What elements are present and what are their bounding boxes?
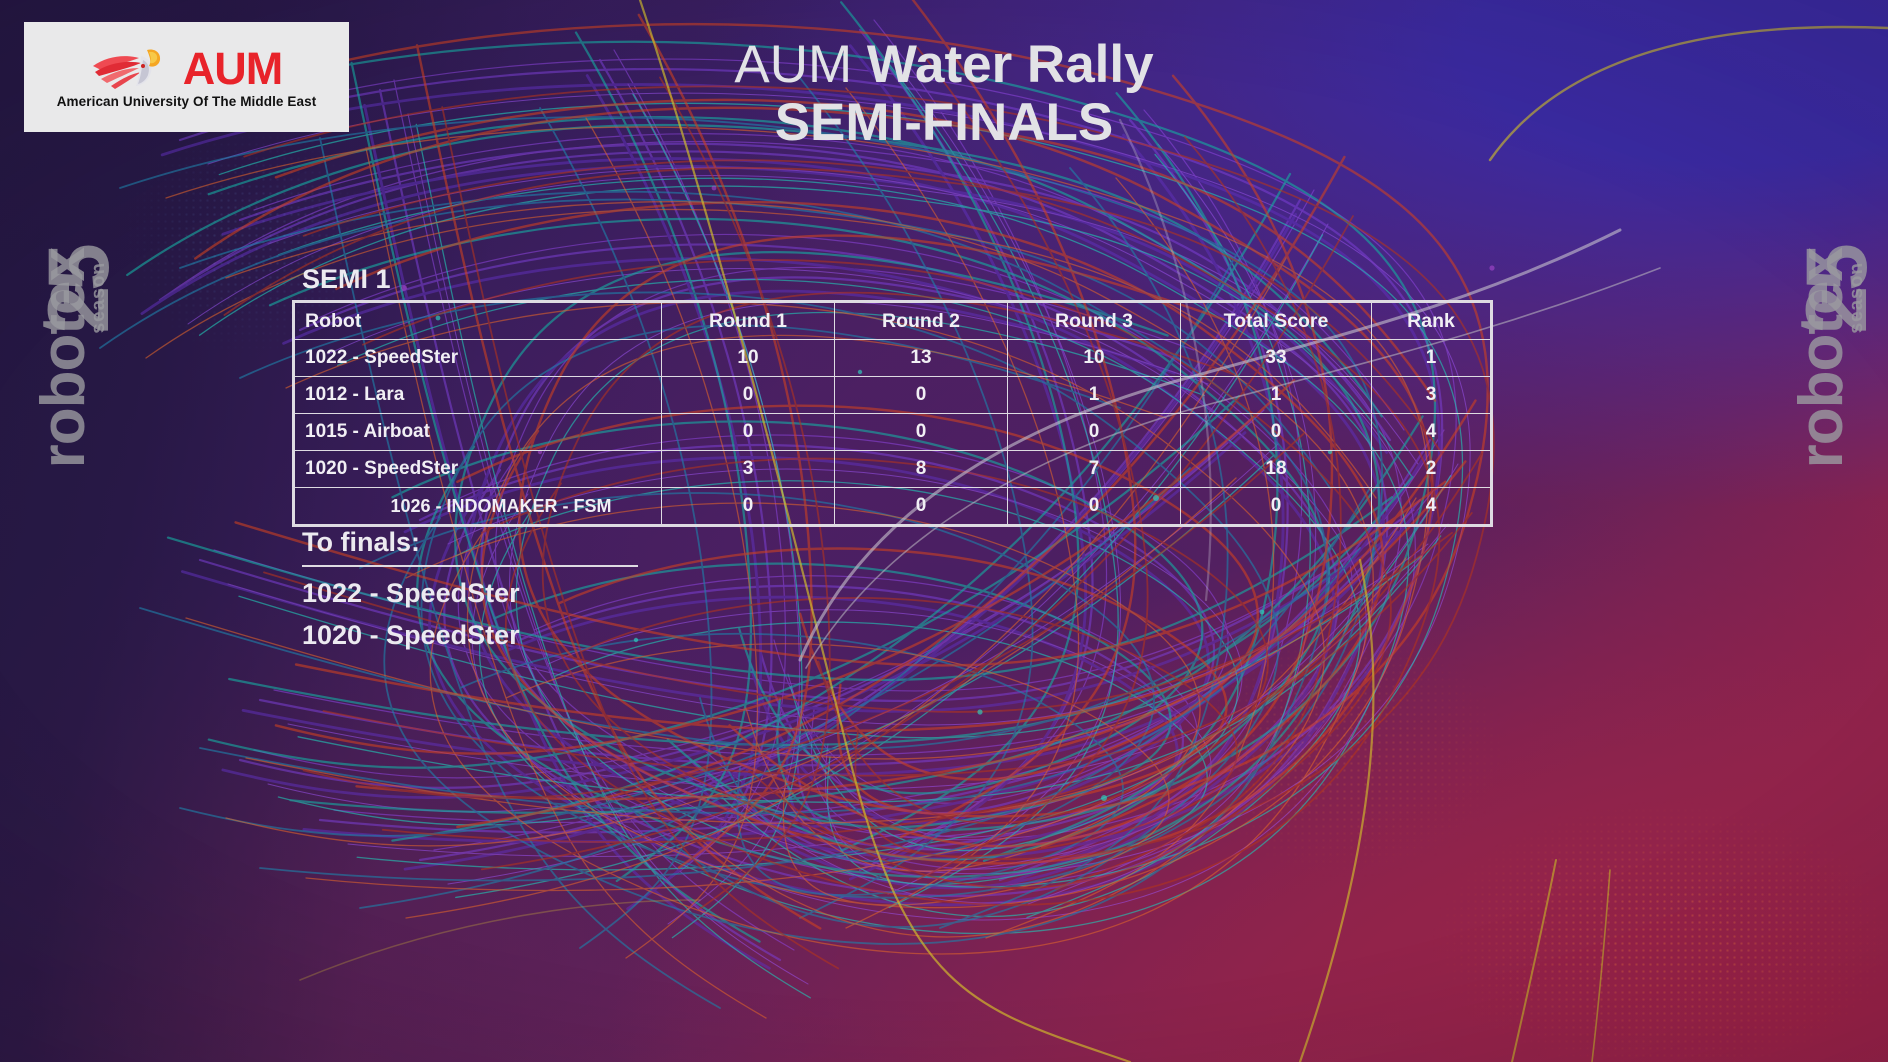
- aum-wordmark: AUM: [183, 48, 282, 89]
- cell-round2: 0: [835, 488, 1008, 526]
- cell-rank: 1: [1372, 340, 1492, 377]
- cell-round3: 0: [1008, 414, 1181, 451]
- cell-robot: 1012 - Lara: [294, 377, 662, 414]
- cell-total: 1: [1181, 377, 1372, 414]
- to-finals-divider: [302, 565, 638, 567]
- robotex-season-watermark-left: season: [88, 261, 110, 335]
- aum-falcon-icon: [91, 46, 179, 92]
- cell-total: 0: [1181, 488, 1372, 526]
- results-table: Robot Round 1 Round 2 Round 3 Total Scor…: [292, 300, 1493, 527]
- cell-round3: 7: [1008, 451, 1181, 488]
- column-header-round2: Round 2: [835, 302, 1008, 340]
- cell-round2: 8: [835, 451, 1008, 488]
- cell-round1: 3: [662, 451, 835, 488]
- robotex-25-watermark-left: 25: [30, 248, 129, 334]
- cell-round1: 10: [662, 340, 835, 377]
- cell-round2: 0: [835, 377, 1008, 414]
- cell-round1: 0: [662, 414, 835, 451]
- cell-round2: 13: [835, 340, 1008, 377]
- cell-robot: 1022 - SpeedSter: [294, 340, 662, 377]
- table-header-row: Robot Round 1 Round 2 Round 3 Total Scor…: [294, 302, 1492, 340]
- background-vignette: [0, 0, 1888, 1062]
- robotex-25-watermark-right: 25: [1788, 248, 1887, 334]
- cell-round2: 0: [835, 414, 1008, 451]
- column-header-robot: Robot: [294, 302, 662, 340]
- cell-round3: 1: [1008, 377, 1181, 414]
- column-header-round3: Round 3: [1008, 302, 1181, 340]
- bracket-section-label: SEMI 1: [302, 264, 391, 295]
- to-finals-heading: To finals:: [302, 528, 638, 558]
- cell-total: 18: [1181, 451, 1372, 488]
- table-row: 1012 - Lara 0 0 1 1 3: [294, 377, 1492, 414]
- column-header-round1: Round 1: [662, 302, 835, 340]
- aum-tagline: American University Of The Middle East: [57, 94, 317, 109]
- cell-robot: 1026 - INDOMAKER - FSM: [294, 488, 662, 526]
- table-row: 1022 - SpeedSter 10 13 10 33 1: [294, 340, 1492, 377]
- cell-round3: 0: [1008, 488, 1181, 526]
- cell-rank: 4: [1372, 488, 1492, 526]
- column-header-total: Total Score: [1181, 302, 1372, 340]
- robotex-season-watermark-right: season: [1846, 261, 1868, 335]
- finals-qualifier: 1020 - SpeedSter: [302, 615, 638, 657]
- cell-robot: 1015 - Airboat: [294, 414, 662, 451]
- table-row: 1020 - SpeedSter 3 8 7 18 2: [294, 451, 1492, 488]
- aum-logo: AUM American University Of The Middle Ea…: [24, 22, 349, 132]
- cell-rank: 2: [1372, 451, 1492, 488]
- cell-rank: 3: [1372, 377, 1492, 414]
- column-header-rank: Rank: [1372, 302, 1492, 340]
- cell-robot: 1020 - SpeedSter: [294, 451, 662, 488]
- results-table-wrapper: Robot Round 1 Round 2 Round 3 Total Scor…: [292, 300, 1336, 527]
- cell-round1: 0: [662, 377, 835, 414]
- scoreboard-slide: AUM American University Of The Middle Ea…: [0, 0, 1888, 1062]
- table-row: 1015 - Airboat 0 0 0 0 4: [294, 414, 1492, 451]
- to-finals-section: To finals: 1022 - SpeedSter 1020 - Speed…: [302, 528, 638, 656]
- cell-round1: 0: [662, 488, 835, 526]
- table-row: 1026 - INDOMAKER - FSM 0 0 0 0 4: [294, 488, 1492, 526]
- cell-rank: 4: [1372, 414, 1492, 451]
- finals-qualifier: 1022 - SpeedSter: [302, 573, 638, 615]
- cell-round3: 10: [1008, 340, 1181, 377]
- cell-total: 33: [1181, 340, 1372, 377]
- cell-total: 0: [1181, 414, 1372, 451]
